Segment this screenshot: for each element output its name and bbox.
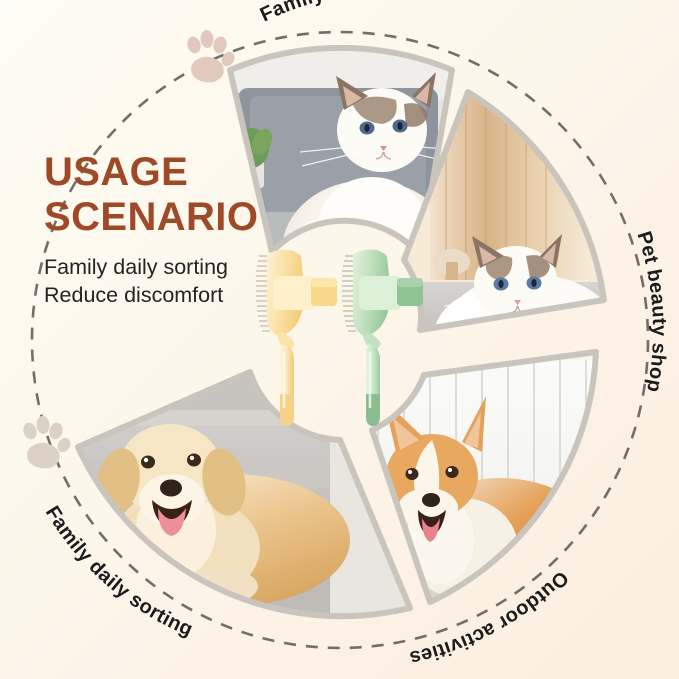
brush-green[interactable] [342, 249, 423, 426]
subtitle-line-2: Reduce discomfort [44, 282, 304, 310]
page-title-line2: SCENARIO [44, 197, 304, 238]
subtitle-line-1: Family daily sorting [44, 254, 304, 282]
headline-block: USAGE SCENARIO Family daily sorting Redu… [44, 152, 304, 309]
infographic-canvas: Family daily sorting Pet beauty shop Out… [0, 0, 679, 679]
subtitle-block: Family daily sorting Reduce discomfort [44, 254, 304, 310]
page-title-line1: USAGE [44, 152, 304, 193]
